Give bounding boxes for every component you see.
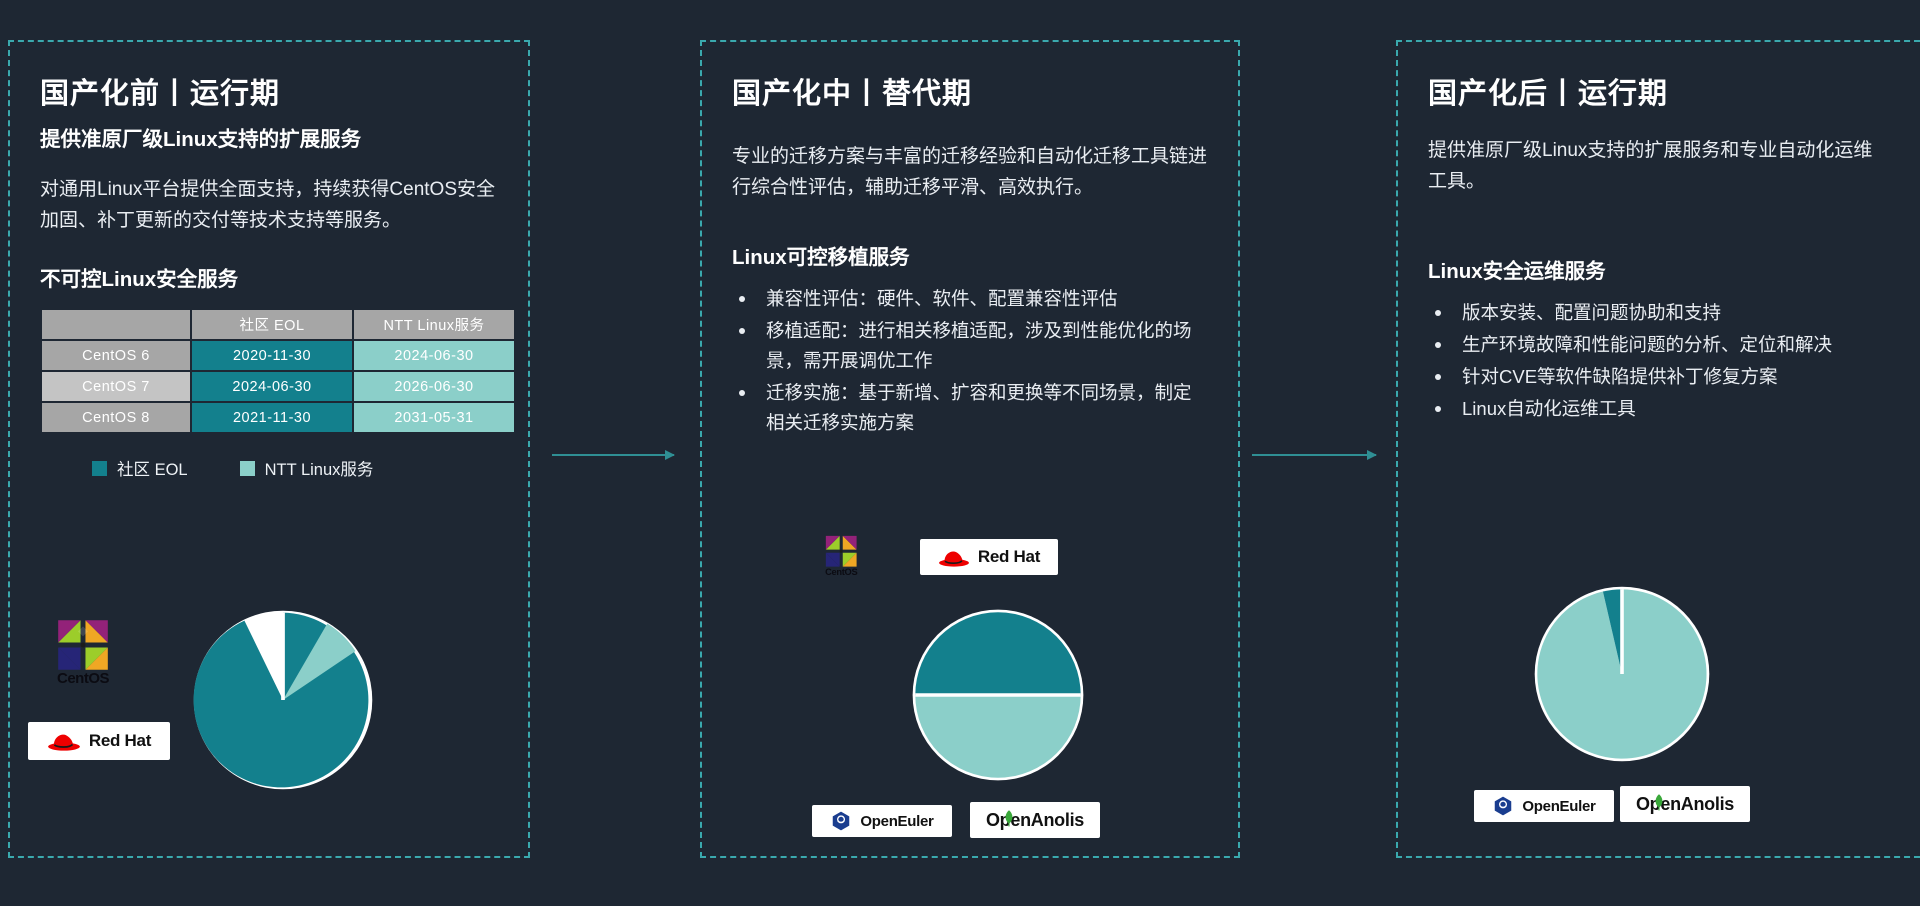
pie-panel-3-svg: [1532, 584, 1712, 764]
centos-mark-icon: [52, 614, 114, 676]
panel-2-section-head: Linux可控移植服务: [732, 240, 1208, 270]
panel-2-title: 国产化中丨替代期: [732, 76, 1208, 112]
openanolis-logo: OpenAnolis: [1620, 786, 1750, 822]
openeuler-logo-text: OpenEuler: [1522, 798, 1595, 815]
list-item: 移植适配：进行相关移植适配，涉及到性能优化的场景，需开展调优工作: [732, 316, 1208, 376]
redhat-fedora-icon: [938, 546, 970, 569]
table-cell-os: CentOS 8: [42, 403, 190, 432]
panel-1-title: 国产化前丨运行期: [40, 76, 498, 112]
panel-1-subtitle: 提供准原厂级Linux支持的扩展服务: [40, 126, 498, 155]
legend-item-ntt: NTT Linux服务: [240, 456, 374, 480]
openeuler-logo: OpenEuler: [812, 805, 952, 837]
centos-logo-text: CentOS: [57, 670, 109, 687]
list-item: 针对CVE等软件缺陷提供补丁修复方案: [1428, 362, 1890, 392]
table-cell-ntt: 2026-06-30: [354, 372, 514, 401]
panel-3-section-head: Linux安全运维服务: [1428, 254, 1890, 284]
pie-chart-panel-1: [190, 607, 376, 798]
centos-eol-table: 社区 EOL NTT Linux服务 CentOS 6 2020-11-30 2…: [40, 308, 516, 434]
pie-slice-right: [915, 612, 1080, 695]
panel-3-title: 国产化后丨运行期: [1428, 76, 1890, 112]
openanolis-logo-text: OpenAnolis: [986, 810, 1084, 831]
legend-item-eol: 社区 EOL: [92, 456, 188, 480]
table-row: CentOS 7 2024-06-30 2026-06-30: [42, 372, 514, 401]
panel-after-localization: 国产化后丨运行期 提供准原厂级Linux支持的扩展服务和专业自动化运维工具。 L…: [1396, 40, 1920, 858]
pie-chart-panel-3: [1532, 584, 1712, 769]
centos-logo: CentOS: [822, 532, 860, 577]
panel-3-bullet-list: 版本安装、配置问题协助和支持 生产环境故障和性能问题的分析、定位和解决 针对CV…: [1428, 298, 1890, 424]
table-cell-os: CentOS 6: [42, 341, 190, 370]
pie-chart-panel-2: [910, 607, 1086, 788]
table-header: 社区 EOL NTT Linux服务: [42, 310, 514, 339]
panel-2-description: 专业的迁移方案与丰富的迁移经验和自动化迁移工具链进行综合性评估，辅助迁移平滑、高…: [732, 142, 1208, 204]
list-item: Linux自动化运维工具: [1428, 394, 1890, 424]
table-body: CentOS 6 2020-11-30 2024-06-30 CentOS 7 …: [42, 341, 514, 432]
panel-3-description: 提供准原厂级Linux支持的扩展服务和专业自动化运维工具。: [1428, 136, 1890, 198]
openeuler-logo: OpenEuler: [1474, 790, 1614, 822]
list-item: 生产环境故障和性能问题的分析、定位和解决: [1428, 330, 1890, 360]
openeuler-logo-text: OpenEuler: [860, 813, 933, 830]
table-header-row: 社区 EOL NTT Linux服务: [42, 310, 514, 339]
redhat-logo-text: Red Hat: [978, 547, 1040, 567]
openanolis-leaf-icon: [1652, 792, 1666, 812]
centos-logo-text: CentOS: [825, 567, 857, 578]
list-item: 版本安装、配置问题协助和支持: [1428, 298, 1890, 328]
table-cell-eol: 2021-11-30: [192, 403, 352, 432]
panel-1-description: 对通用Linux平台提供全面支持，持续获得CentOS安全加固、补丁更新的交付等…: [40, 175, 498, 237]
table-cell-os: CentOS 7: [42, 372, 190, 401]
table-cell-eol: 2024-06-30: [192, 372, 352, 401]
redhat-logo: Red Hat: [28, 722, 170, 760]
table-cell-eol: 2020-11-30: [192, 341, 352, 370]
openanolis-logo-text: OpenAnolis: [1636, 794, 1734, 815]
centos-logo: CentOS: [52, 614, 114, 687]
panel-2-bullet-list: 兼容性评估：硬件、软件、配置兼容性评估 移植适配：进行相关移植适配，涉及到性能优…: [732, 284, 1208, 438]
pie-panel-2-svg: [910, 607, 1086, 783]
table-row: CentOS 8 2021-11-30 2031-05-31: [42, 403, 514, 432]
arrow-panel1-to-panel2: [552, 454, 674, 456]
table-legend: 社区 EOL NTT Linux服务: [40, 456, 498, 480]
legend-swatch-icon: [240, 461, 255, 476]
legend-label: 社区 EOL: [117, 456, 188, 480]
openanolis-logo: OpenAnolis: [970, 802, 1100, 838]
panel-during-localization: 国产化中丨替代期 专业的迁移方案与丰富的迁移经验和自动化迁移工具链进行综合性评估…: [700, 40, 1240, 858]
table-col-blank: [42, 310, 190, 339]
arrow-panel2-to-panel3: [1252, 454, 1376, 456]
panel-1-section-head: 不可控Linux安全服务: [40, 262, 498, 292]
table-cell-ntt: 2031-05-31: [354, 403, 514, 432]
pie-slice-left: [915, 695, 1080, 778]
centos-mark-icon: [822, 532, 860, 570]
table-col-ntt: NTT Linux服务: [354, 310, 514, 339]
list-item: 迁移实施：基于新增、扩容和更换等不同场景，制定相关迁移实施方案: [732, 378, 1208, 438]
redhat-logo: Red Hat: [920, 539, 1058, 575]
redhat-logo-text: Red Hat: [89, 731, 151, 751]
legend-swatch-icon: [92, 461, 107, 476]
slide-canvas: 国产化前丨运行期 提供准原厂级Linux支持的扩展服务 对通用Linux平台提供…: [0, 0, 1920, 906]
pie-panel-1-svg: [190, 607, 376, 793]
panel-before-localization: 国产化前丨运行期 提供准原厂级Linux支持的扩展服务 对通用Linux平台提供…: [8, 40, 530, 858]
list-item: 兼容性评估：硬件、软件、配置兼容性评估: [732, 284, 1208, 314]
table-row: CentOS 6 2020-11-30 2024-06-30: [42, 341, 514, 370]
redhat-fedora-icon: [47, 729, 81, 753]
openeuler-mark-icon: [1492, 795, 1514, 817]
openeuler-mark-icon: [830, 810, 852, 832]
table-cell-ntt: 2024-06-30: [354, 341, 514, 370]
legend-label: NTT Linux服务: [265, 456, 374, 480]
openanolis-leaf-icon: [1002, 808, 1016, 828]
table-col-eol: 社区 EOL: [192, 310, 352, 339]
